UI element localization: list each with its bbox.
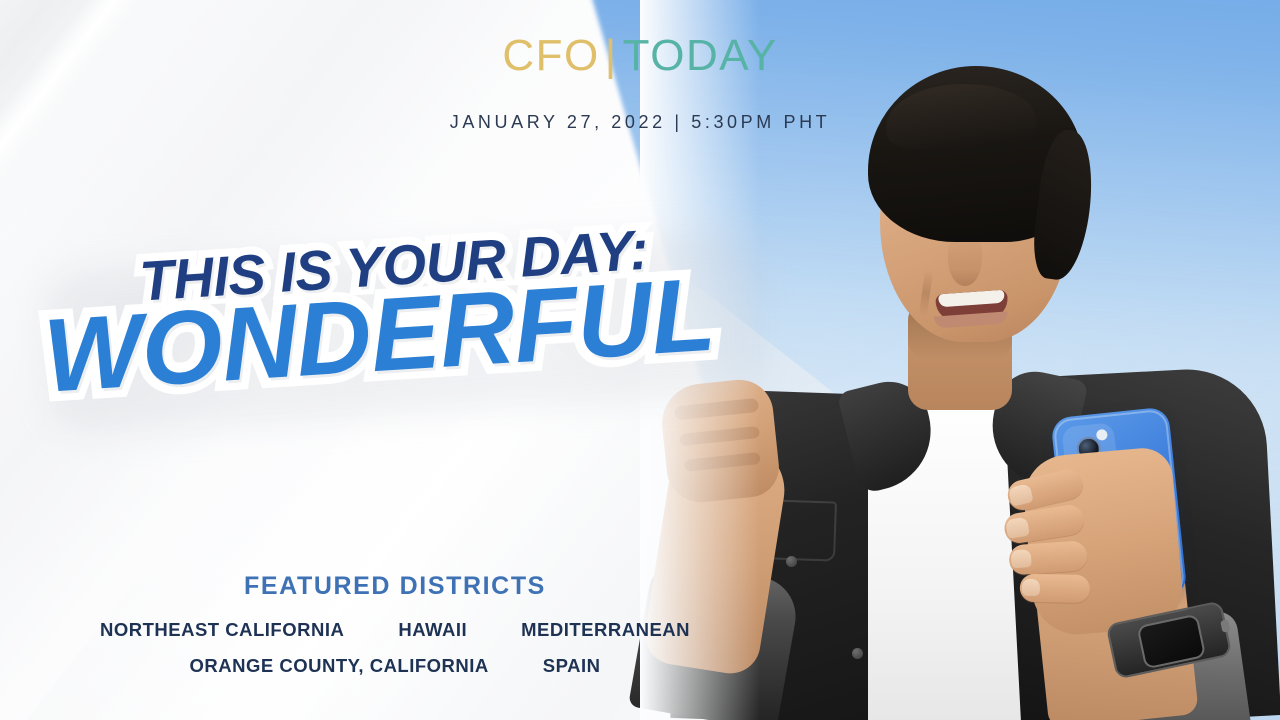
district-item: ORANGE COUNTY, CALIFORNIA xyxy=(190,655,489,677)
finger-ring xyxy=(1008,540,1088,575)
fingernail-index xyxy=(1008,483,1034,506)
featured-districts: FEATURED DISTRICTS NORTHEAST CALIFORNIA … xyxy=(0,572,790,677)
logo-separator: | xyxy=(600,31,623,80)
fingernail-ring xyxy=(1011,549,1032,568)
district-item: HAWAII xyxy=(398,619,467,641)
hand-holding-phone xyxy=(1020,446,1185,638)
brand-logo: CFO|TODAY xyxy=(0,34,1280,78)
district-item: MEDITERRANEAN xyxy=(521,619,690,641)
event-datetime: JANUARY 27, 2022 | 5:30PM PHT xyxy=(0,112,1280,133)
fingernail-pinky xyxy=(1022,579,1040,596)
district-item: NORTHEAST CALIFORNIA xyxy=(100,619,344,641)
logo-primary-text: CFO xyxy=(502,31,599,80)
district-row-2: ORANGE COUNTY, CALIFORNIA SPAIN xyxy=(0,655,790,677)
promo-banner: CFO|TODAY JANUARY 27, 2022 | 5:30PM PHT … xyxy=(0,0,1280,720)
district-row-1: NORTHEAST CALIFORNIA HAWAII MEDITERRANEA… xyxy=(0,619,790,641)
jacket-button-2 xyxy=(852,648,863,659)
watch-face xyxy=(1136,614,1206,670)
finger-pinky xyxy=(1020,574,1090,603)
logo-secondary-text: TODAY xyxy=(623,31,778,80)
jacket-button-1 xyxy=(786,556,797,567)
fingernail-middle xyxy=(1005,517,1030,539)
district-item: SPAIN xyxy=(543,655,601,677)
featured-districts-title: FEATURED DISTRICTS xyxy=(0,572,790,601)
